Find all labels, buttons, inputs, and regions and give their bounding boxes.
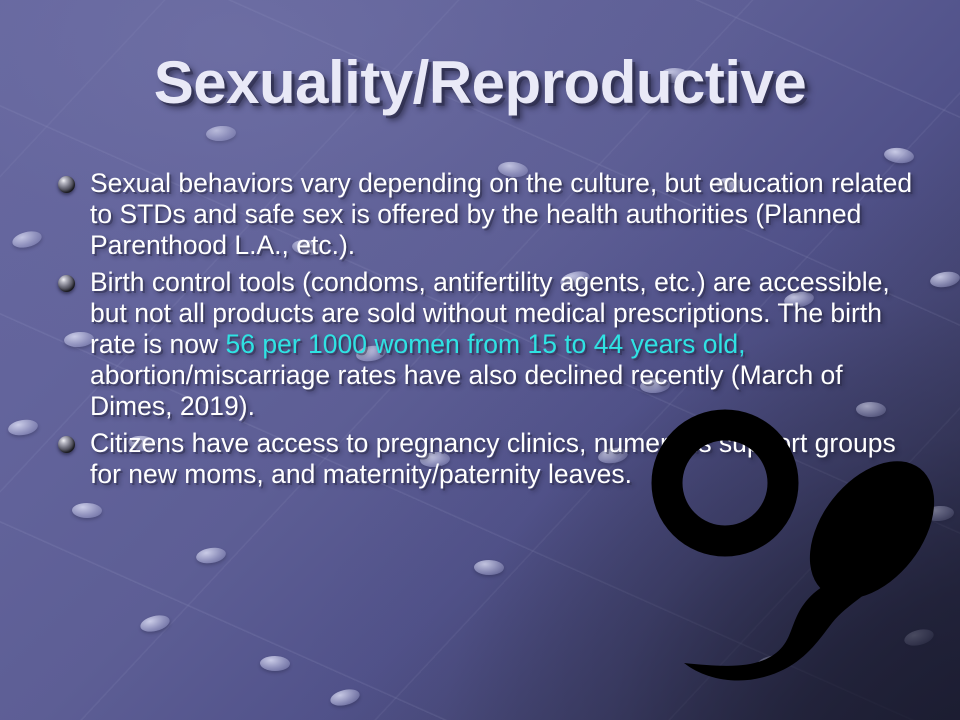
sphere-bullet-icon bbox=[58, 275, 75, 292]
bullet-segment: Citizens have access to pregnancy clinic… bbox=[90, 428, 896, 489]
list-item: Sexual behaviors vary depending on the c… bbox=[58, 168, 918, 261]
sphere-bullet-icon bbox=[58, 176, 75, 193]
bullet-text-sexual-behaviors: Sexual behaviors vary depending on the c… bbox=[90, 168, 918, 261]
bullet-text-birth-control: Birth control tools (condoms, antifertil… bbox=[90, 267, 918, 422]
slide-root: Sexuality/Reproductive Sexual behaviors … bbox=[0, 0, 960, 720]
slide-body: Sexual behaviors vary depending on the c… bbox=[58, 168, 918, 496]
bullet-segment: abortion/miscarriage rates have also dec… bbox=[90, 360, 843, 421]
list-item: Citizens have access to pregnancy clinic… bbox=[58, 428, 918, 490]
sphere-bullet-icon bbox=[58, 436, 75, 453]
bullet-segment-highlighted: 56 per 1000 women from 15 to 44 years ol… bbox=[226, 329, 746, 359]
bullet-text-pregnancy-clinics: Citizens have access to pregnancy clinic… bbox=[90, 428, 918, 490]
slide-title: Sexuality/Reproductive bbox=[0, 48, 960, 117]
bullet-segment: Sexual behaviors vary depending on the c… bbox=[90, 168, 912, 260]
list-item: Birth control tools (condoms, antifertil… bbox=[58, 267, 918, 422]
